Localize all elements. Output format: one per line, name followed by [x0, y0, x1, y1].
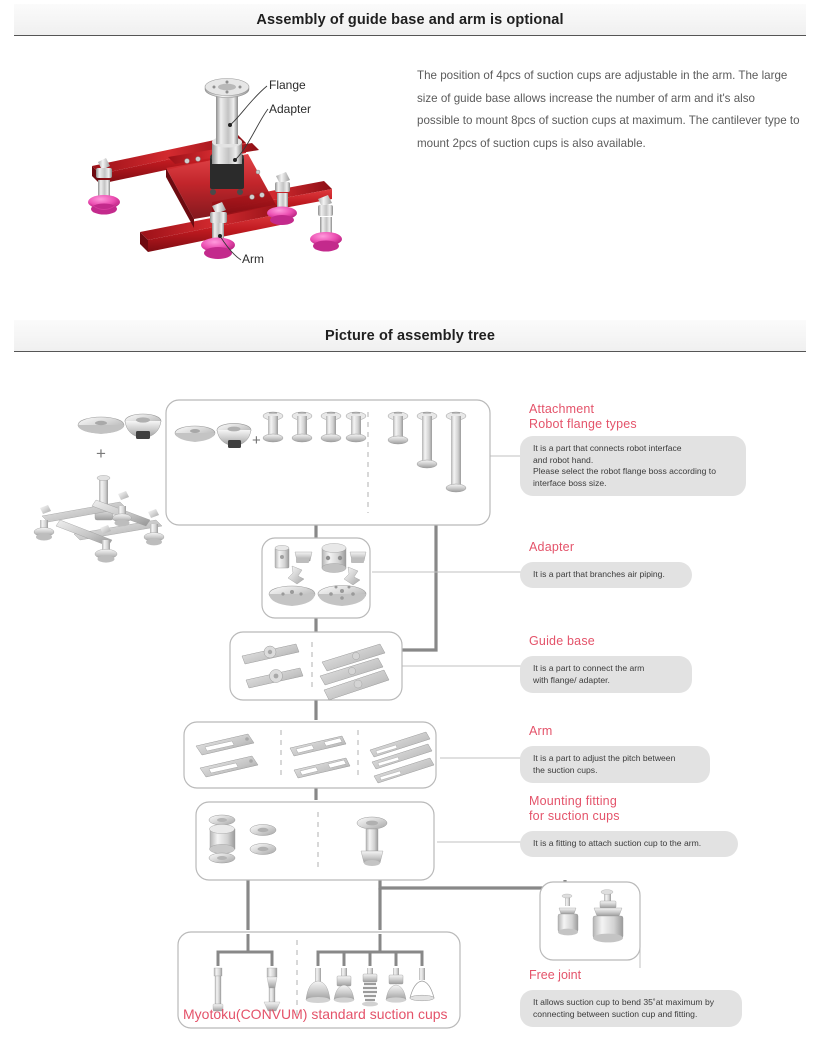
group-title-line-1: Arm: [529, 724, 553, 738]
desc-line: the suction cups.: [533, 765, 698, 777]
desc-line: connecting between suction cup and fitti…: [533, 1009, 730, 1021]
suction-cup-brand-label: Myotoku(CONVUM) standard suction cups: [183, 1006, 448, 1022]
group-title-line-2: Robot flange types: [529, 417, 637, 431]
desc-line: It is a part that connects robot interfa…: [533, 443, 734, 455]
part-flange-boss-cup: [125, 414, 161, 439]
group-title-line-1: Guide base: [529, 634, 595, 648]
desc-line: It is a part to adjust the pitch between: [533, 753, 698, 765]
callout-dot-flange: [228, 123, 232, 127]
plus-sign: +: [252, 432, 261, 449]
group-title-line-1: Adapter: [529, 540, 574, 554]
part-mounting-washer: [250, 844, 276, 855]
desc-line: It allows suction cup to bend 35˚at maxi…: [533, 997, 730, 1009]
group-description-guide-base: It is a part to connect the arm with fla…: [520, 656, 692, 693]
group-description-arm: It is a part to adjust the pitch between…: [520, 746, 710, 783]
group-description-free-joint: It allows suction cup to bend 35˚at maxi…: [520, 990, 742, 1027]
part-mounting-washer: [250, 825, 276, 836]
part-adapter-cap: [350, 552, 366, 563]
part-assembled-hand-grey: [34, 475, 164, 562]
group-description-attachment-flange: It is a part that connects robot interfa…: [520, 436, 746, 496]
desc-line: and robot hand.: [533, 455, 734, 467]
desc-line: It is a part to connect the arm: [533, 663, 680, 675]
intro-paragraph: The position of 4pcs of suction cups are…: [417, 65, 800, 155]
photo-suction-cup: [88, 180, 120, 215]
group-description-adapter: It is a part that branches air piping.: [520, 562, 692, 588]
plus-sign: +: [96, 444, 106, 463]
group-title-line-2: for suction cups: [529, 809, 620, 823]
section-header-assembly-tree: Picture of assembly tree: [14, 320, 806, 352]
photo-fitting: [275, 172, 290, 192]
section-header-optional-assembly: Assembly of guide base and arm is option…: [14, 4, 806, 36]
page-title-optional-assembly: Assembly of guide base and arm is option…: [256, 12, 563, 28]
photo-flange-column: [205, 79, 249, 196]
group-title-arm: Arm: [529, 724, 553, 739]
page-title-assembly-tree: Picture of assembly tree: [325, 328, 495, 344]
photo-suction-cup: [310, 217, 342, 252]
part-adapter-large-body: [322, 544, 346, 573]
parts-box-free-joint: [540, 882, 640, 960]
desc-line: It is a part that branches air piping.: [533, 569, 680, 581]
product-photo-illustration: [62, 62, 352, 277]
desc-line: It is a fitting to attach suction cup to…: [533, 838, 726, 850]
callout-dot-adapter: [233, 158, 237, 162]
desc-line: interface boss size.: [533, 478, 734, 490]
assembly-tree-diagram: +: [0, 368, 820, 1050]
group-title-free-joint: Free joint: [529, 968, 581, 982]
photo-fitting: [96, 158, 112, 178]
group-description-mounting-fitting: It is a fitting to attach suction cup to…: [520, 831, 738, 857]
group-title-line-1: Attachment: [529, 402, 594, 416]
group-title-attachment-flange: Attachment Robot flange types: [529, 402, 637, 431]
desc-line: Please select the robot flange boss acco…: [533, 466, 734, 478]
part-mounting-bush: [209, 815, 235, 863]
group-title-line-1: Free joint: [529, 968, 581, 982]
group-title-line-1: Mounting fitting: [529, 794, 617, 808]
callout-label-flange: Flange: [269, 78, 306, 92]
part-robot-flange-disc: [78, 417, 124, 434]
callout-dot-arm: [218, 234, 222, 238]
product-photo-guide-base-assembly: Flange Adapter Arm: [62, 62, 352, 277]
group-title-guide-base: Guide base: [529, 634, 595, 649]
group-title-adapter: Adapter: [529, 540, 574, 555]
callout-label-adapter: Adapter: [269, 102, 311, 116]
group-title-mounting-fitting: Mounting fitting for suction cups: [529, 794, 620, 823]
callout-label-arm: Arm: [242, 252, 264, 266]
part-adapter-small-body: [275, 545, 289, 568]
desc-line: with flange/ adapter.: [533, 675, 680, 687]
